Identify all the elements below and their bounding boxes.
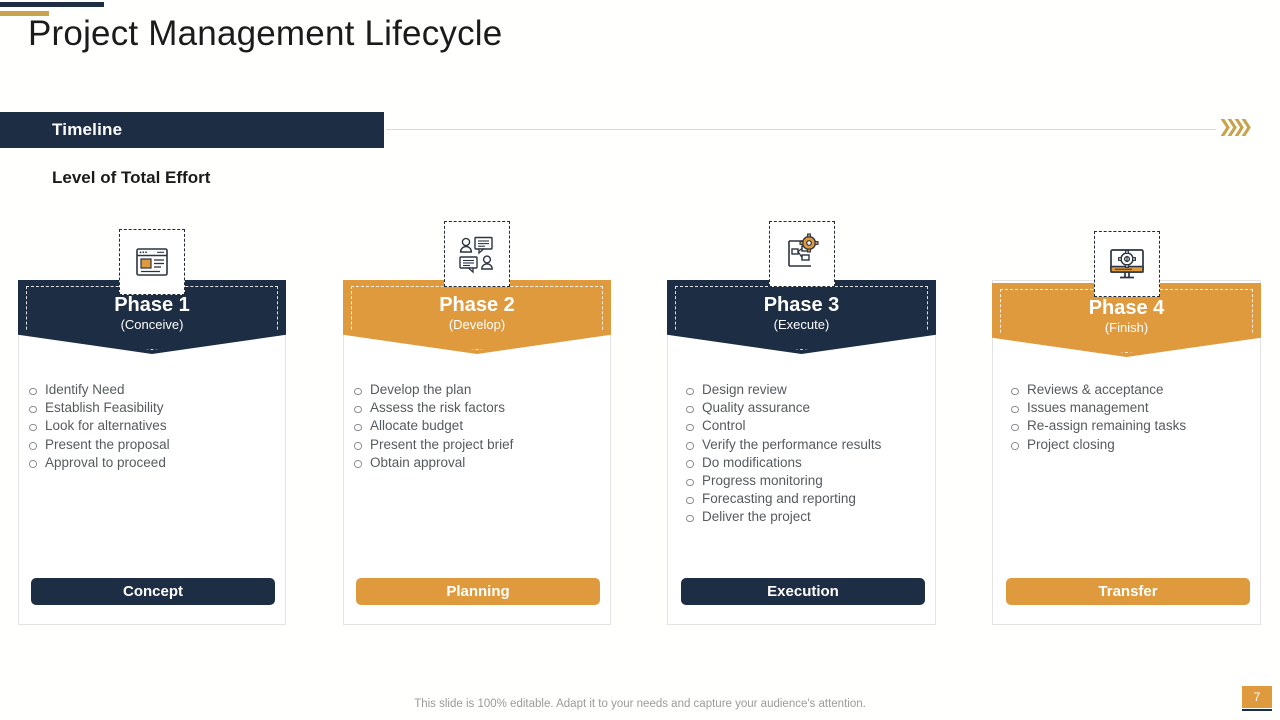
page-title: Project Management Lifecycle (28, 14, 502, 54)
phase-bullet-list: Identify Need Establish Feasibility Look… (21, 381, 170, 472)
phase-bullet-list: Develop the plan Assess the risk factors… (346, 381, 513, 472)
phase-cards-container: Identify Need Establish Feasibility Look… (0, 215, 1280, 615)
list-item: Do modifications (678, 454, 881, 472)
list-item: Deliver the project (678, 508, 881, 526)
list-item: Design review (678, 381, 881, 399)
list-item: Obtain approval (346, 454, 513, 472)
chevron-right-icon: ❯ (1239, 119, 1247, 135)
phase-icon-box (444, 221, 510, 287)
phase-title: Phase 2 (439, 294, 515, 316)
phase-bullet-list: Design review Quality assurance Control … (678, 381, 881, 527)
list-item: Reviews & acceptance (1003, 381, 1186, 399)
phase-button[interactable]: Concept (31, 578, 275, 605)
list-item: Re-assign remaining tasks (1003, 417, 1186, 435)
accent-bar-dark (0, 2, 104, 7)
monitor-gear-icon (1105, 242, 1149, 286)
flowchart-gear-icon (780, 232, 824, 276)
phase-button[interactable]: Planning (356, 578, 600, 605)
phase-subtitle: (Finish) (1105, 319, 1148, 337)
phase-title: Phase 4 (1089, 297, 1165, 319)
phase-button[interactable]: Execution (681, 578, 925, 605)
list-item: Look for alternatives (21, 417, 170, 435)
list-item: Quality assurance (678, 399, 881, 417)
list-item: Present the proposal (21, 436, 170, 454)
list-item: Establish Feasibility (21, 399, 170, 417)
section-subtitle: Level of Total Effort (52, 168, 210, 188)
chevron-arrows-group: ❯ ❯ ❯ ❯ (1218, 119, 1246, 135)
slide-canvas: Project Management Lifecycle Timeline ❯ … (0, 0, 1280, 720)
page-number-underline (1242, 709, 1272, 711)
timeline-rule (386, 129, 1216, 130)
phase-icon-box (119, 229, 185, 295)
phase-button[interactable]: Transfer (1006, 578, 1250, 605)
list-item: Assess the risk factors (346, 399, 513, 417)
phase-title: Phase 3 (764, 294, 840, 316)
phase-subtitle: (Conceive) (121, 316, 184, 334)
phase-subtitle: (Execute) (774, 316, 830, 334)
phase-subtitle: (Develop) (449, 316, 505, 334)
page-number-badge: 7 (1242, 686, 1272, 708)
list-item: Control (678, 417, 881, 435)
list-item: Present the project brief (346, 436, 513, 454)
phase-icon-box (769, 221, 835, 287)
people-discussion-icon (455, 232, 499, 276)
document-window-icon (131, 241, 173, 283)
timeline-label: Timeline (52, 120, 122, 140)
list-item: Verify the performance results (678, 436, 881, 454)
phase-bullet-list: Reviews & acceptance Issues management R… (1003, 381, 1186, 454)
list-item: Develop the plan (346, 381, 513, 399)
footer-note: This slide is 100% editable. Adapt it to… (0, 698, 1280, 710)
list-item: Project closing (1003, 436, 1186, 454)
phase-title: Phase 1 (114, 294, 190, 316)
list-item: Progress monitoring (678, 472, 881, 490)
list-item: Forecasting and reporting (678, 490, 881, 508)
list-item: Approval to proceed (21, 454, 170, 472)
list-item: Issues management (1003, 399, 1186, 417)
list-item: Allocate budget (346, 417, 513, 435)
list-item: Identify Need (21, 381, 170, 399)
timeline-banner: Timeline (0, 112, 384, 148)
phase-icon-box (1094, 231, 1160, 297)
